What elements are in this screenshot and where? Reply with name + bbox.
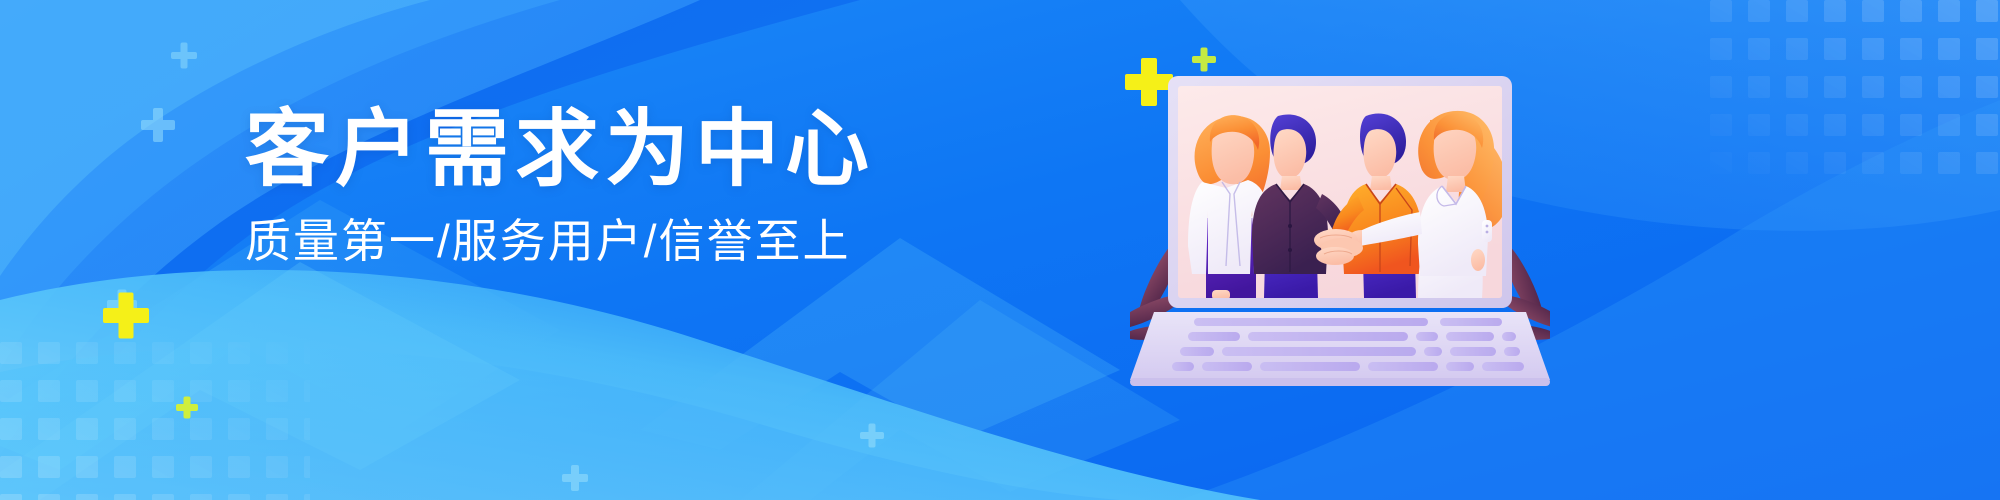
dot-grid-bottom-left [0, 330, 310, 500]
background-artwork [0, 0, 2000, 500]
promo-banner: 客户需求为中心 质量第一/服务用户/信誉至上 [0, 0, 2000, 500]
dot-grid-top-right [1700, 0, 2000, 180]
laptop-illustration [1130, 60, 1550, 390]
